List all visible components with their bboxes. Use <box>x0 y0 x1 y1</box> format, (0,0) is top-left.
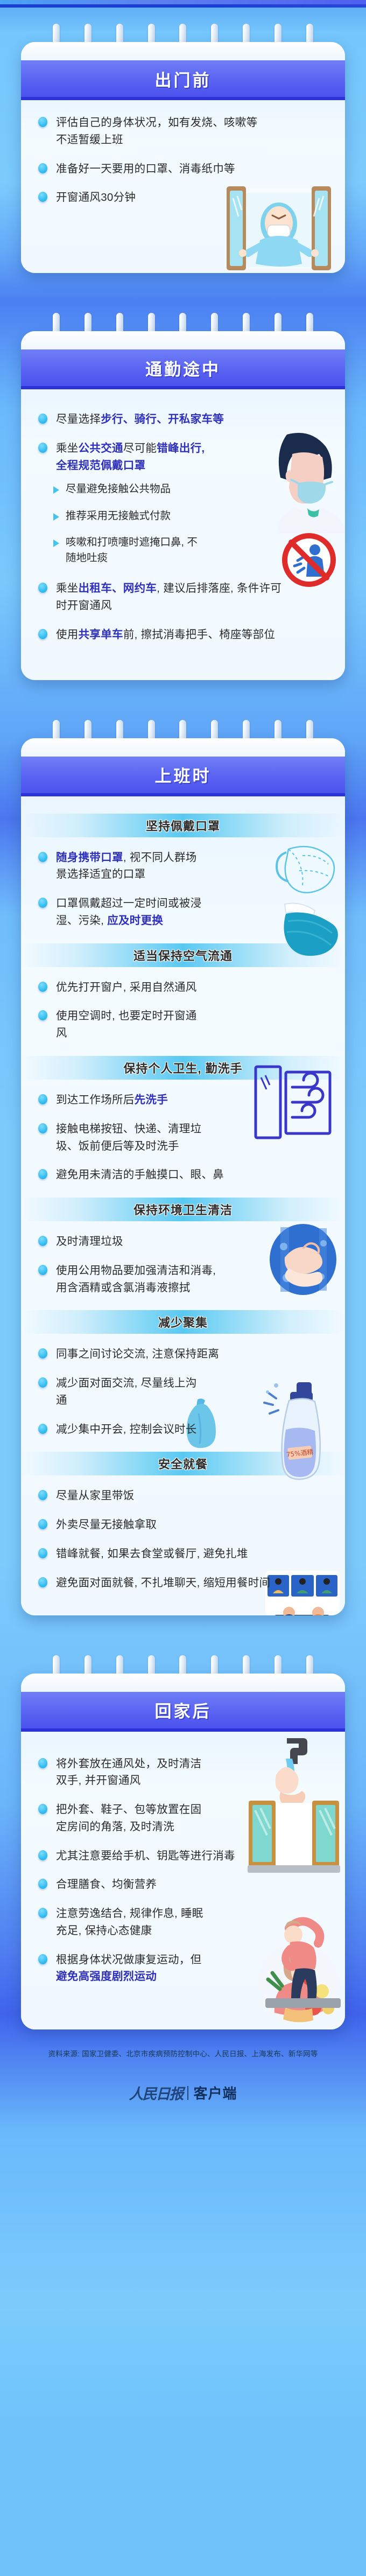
bullet-text-plain: 乘坐 <box>56 582 79 594</box>
group-header-text: 保持个人卫生, 勤洗手 <box>123 1059 242 1076</box>
list-item: 使用公用物品要加强清洁和消毒, 用含酒精或含氯消毒液擦拭 <box>35 1262 331 1297</box>
list-item: 避免面对面就餐, 不扎堆聊天, 缩短用餐时间 <box>35 1574 331 1592</box>
bullet-text: 接触电梯按钮、快递、清理垃圾、饭前便后等及时洗手 <box>56 1121 212 1155</box>
bullet-dot-icon <box>38 1236 47 1246</box>
list-item: 评估自己的身体状况，如有发烧、咳嗽等不适暂缓上班 <box>35 114 331 149</box>
section-title-text: 通勤途中 <box>145 356 221 380</box>
list-item: 随身携带口罩, 视不同人群场景选择适宜的口罩 <box>35 849 331 884</box>
publisher-logo: 人民日报 客户端 <box>0 2082 366 2103</box>
bullet-text-plain: 使用 <box>56 628 79 641</box>
bullet-text: 尽量从家里带饭 <box>56 1487 135 1504</box>
list-item: 乘坐出租车、网约车, 建议后排落座, 条件许可时开窗通风 <box>35 580 331 614</box>
bullet-list: 随身携带口罩, 视不同人群场景选择适宜的口罩 口罩佩戴超过一定时间或被浸湿、污染… <box>35 849 331 929</box>
bullet-list: 评估自己的身体状况，如有发烧、咳嗽等不适暂缓上班 准备好一天要用的口罩、消毒纸巾… <box>35 114 331 206</box>
bullet-text-plain: 到达工作场所后 <box>56 1094 135 1106</box>
bullet-dot-icon <box>38 1348 47 1359</box>
list-item: 推荐采用无接触式付款 <box>53 508 331 524</box>
group-header-text: 安全就餐 <box>158 1455 208 1472</box>
bullet-list: 尽量从家里带饭 外卖尽量无接触拿取 错峰就餐, 如果去食堂或餐厅, 避免扎堆 避… <box>35 1487 331 1591</box>
section-title-back-home: 回家后 <box>21 1692 345 1732</box>
logo-kehuduan: 客户端 <box>193 2083 237 2103</box>
list-item: 注意劳逸结合, 规律作息, 睡眠充足, 保持心态健康 <box>35 1905 331 1940</box>
bullet-text: 同事之间讨论交流, 注意保持距离 <box>56 1346 219 1363</box>
bullet-dot-icon <box>38 1169 47 1179</box>
sub-bullet-text: 尽量避免接触公共物品 <box>66 481 171 497</box>
bullet-text: 使用公用物品要加强清洁和消毒, 用含酒精或含氯消毒液擦拭 <box>56 1262 217 1297</box>
list-item: 咳嗽和打喷嚏时遮掩口鼻, 不随地吐痰 <box>53 535 331 566</box>
list-item: 外卖尽量无接触拿取 <box>35 1516 331 1534</box>
bullet-text-highlight: 出租车、网约车 <box>79 582 157 594</box>
list-item: 乘坐公共交通尽可能错峰出行, 全程规范佩戴口罩 <box>35 440 331 474</box>
bullet-text-highlight: 应及时更换 <box>107 914 163 927</box>
section-title-before-leaving: 出门前 <box>21 60 345 100</box>
bullet-text: 错峰就餐, 如果去食堂或餐厅, 避免扎堆 <box>56 1545 248 1563</box>
bullet-text: 使用共享单车前, 擦拭消毒把手、椅座等部位 <box>56 626 275 643</box>
bullet-text: 外卖尽量无接触拿取 <box>56 1516 157 1534</box>
section-title-commuting: 通勤途中 <box>21 349 345 389</box>
section-title-at-work: 上班时 <box>21 757 345 796</box>
sub-bullet-text: 咳嗽和打喷嚏时遮掩口鼻, 不随地吐痰 <box>66 535 207 566</box>
group-header-personal-hygiene: 保持个人卫生, 勤洗手 <box>21 1056 345 1080</box>
section-card-commuting: 通勤途中 <box>21 313 345 680</box>
bullet-text-highlight: 公共交通 <box>79 442 123 454</box>
list-item: 减少集中开会, 控制会议时长 <box>35 1421 331 1438</box>
list-item: 同事之间讨论交流, 注意保持距离 <box>35 1346 331 1363</box>
bullet-text-highlight: 随身携带口罩 <box>56 851 123 864</box>
bullet-text: 乘坐出租车、网约车, 建议后排落座, 条件许可时开窗通风 <box>56 580 282 614</box>
bullet-text: 乘坐公共交通尽可能错峰出行, 全程规范佩戴口罩 <box>56 440 217 474</box>
list-item: 优先打开窗户, 采用自然通风 <box>35 979 331 996</box>
bullet-text: 及时清理垃圾 <box>56 1233 123 1250</box>
bullet-text: 根据身体状况做康复运动，但避免高强度剧烈运动 <box>56 1951 212 1986</box>
bullet-dot-icon <box>38 852 47 862</box>
section-title-text: 出门前 <box>155 67 212 91</box>
card-top-edge <box>21 738 345 757</box>
bullet-dot-icon <box>38 1879 47 1889</box>
bullet-dot-icon <box>38 192 47 202</box>
bullet-dot-icon <box>38 117 47 127</box>
group-header-environment-clean: 保持环境卫生清洁 <box>21 1198 345 1221</box>
bullet-text: 优先打开窗户, 采用自然通风 <box>56 979 197 996</box>
bullet-text: 避免用未清洁的手触摸口、眼、鼻 <box>56 1166 224 1184</box>
list-item: 口罩佩戴超过一定时间或被浸湿、污染, 应及时更换 <box>35 895 331 929</box>
section-card-before-leaving: 出门前 评估自己的身体状况，如有发烧、咳嗽等不适暂缓上班 准备好一天要用的口罩、… <box>21 24 345 273</box>
bullet-dot-icon <box>38 982 47 992</box>
bullet-text: 合理膳食、均衡营养 <box>56 1876 157 1893</box>
bullet-dot-icon <box>38 629 47 639</box>
section-title-text: 回家后 <box>155 1698 212 1722</box>
list-item: 尽量避免接触公共物品 <box>53 481 331 497</box>
bullet-text: 随身携带口罩, 视不同人群场景选择适宜的口罩 <box>56 849 207 884</box>
bullet-text: 把外套、鞋子、包等放置在固定房间的角落, 及时清洗 <box>56 1801 212 1836</box>
bullet-dot-icon <box>38 1954 47 1964</box>
list-item: 将外套放在通风处，及时清洁双手, 并开窗通风 <box>35 1755 331 1790</box>
list-item: 接触电梯按钮、快递、清理垃圾、饭前便后等及时洗手 <box>35 1121 331 1155</box>
logo-renmin-ribao: 人民日报 <box>129 2082 182 2103</box>
bullet-text-plain: 尽量选择 <box>56 413 101 425</box>
bullet-text: 注意劳逸结合, 规律作息, 睡眠充足, 保持心态健康 <box>56 1905 212 1940</box>
bullet-list: 优先打开窗户, 采用自然通风 使用空调时, 也要定时开窗通风 <box>35 979 331 1042</box>
bullet-text: 到达工作场所后先洗手 <box>56 1091 168 1109</box>
bullet-dot-icon <box>38 1548 47 1558</box>
bullet-list: 到达工作场所后先洗手 接触电梯按钮、快递、清理垃圾、饭前便后等及时洗手 避免用未… <box>35 1091 331 1184</box>
bullet-dot-icon <box>38 1123 47 1133</box>
bullet-dot-icon <box>38 1804 47 1814</box>
list-item: 到达工作场所后先洗手 <box>35 1091 331 1109</box>
bullet-list: 及时清理垃圾 使用公用物品要加强清洁和消毒, 用含酒精或含氯消毒液擦拭 <box>35 1233 331 1296</box>
bullet-dot-icon <box>38 1424 47 1434</box>
group-header-text: 减少聚集 <box>158 1313 208 1331</box>
bullet-dot-icon <box>38 1850 47 1860</box>
group-header-text: 适当保持空气流通 <box>133 947 233 964</box>
list-item: 及时清理垃圾 <box>35 1233 331 1250</box>
bullet-dot-icon <box>38 1577 47 1587</box>
bullet-dot-icon <box>38 1265 47 1275</box>
bullet-text: 将外套放在通风处，及时清洁双手, 并开窗通风 <box>56 1755 212 1790</box>
bullet-text-plain: 前, 擦拭消毒把手、椅座等部位 <box>123 628 275 641</box>
card-top-edge <box>21 42 345 60</box>
section-card-at-work: 上班时 坚持佩戴口罩 <box>21 720 345 1615</box>
bullet-text: 评估自己的身体状况，如有发烧、咳嗽等不适暂缓上班 <box>56 114 266 149</box>
bullet-text: 尽量选择步行、骑行、开私家车等 <box>56 411 224 428</box>
list-item: 减少面对面交流, 尽量线上沟通 <box>35 1375 331 1409</box>
list-item: 使用共享单车前, 擦拭消毒把手、椅座等部位 <box>35 626 331 643</box>
bullet-dot-icon <box>38 1758 47 1768</box>
group-header-air-circulation: 适当保持空气流通 <box>21 943 345 967</box>
bullet-text-plain: 根据身体状况做康复运动，但 <box>56 1954 201 1966</box>
group-header-safe-dining: 安全就餐 <box>21 1452 345 1475</box>
bullet-dot-icon <box>38 583 47 593</box>
bullet-dot-icon <box>38 1377 47 1388</box>
list-item: 使用空调时, 也要定时开窗通风 <box>35 1007 331 1042</box>
bullet-text: 开窗通风30分钟 <box>56 189 136 206</box>
group-header-text: 坚持佩戴口罩 <box>146 817 220 834</box>
bullet-text-plain: 尽可能 <box>123 442 157 454</box>
bullet-dot-icon <box>38 1010 47 1020</box>
list-item: 合理膳食、均衡营养 <box>35 1876 331 1893</box>
bullet-dot-icon <box>38 1094 47 1104</box>
card-top-edge <box>21 331 345 349</box>
sub-bullet-text: 推荐采用无接触式付款 <box>66 508 171 524</box>
bullet-text: 口罩佩戴超过一定时间或被浸湿、污染, 应及时更换 <box>56 895 212 929</box>
footer: 资料来源: 国家卫健委、北京市疾病预防控制中心、人民日报、上海发布、新华网等 人… <box>0 2029 366 2117</box>
list-item: 准备好一天要用的口罩、消毒纸巾等 <box>35 160 331 178</box>
triangle-bullet-icon <box>53 486 59 494</box>
bullet-dot-icon <box>38 414 47 424</box>
bullet-dot-icon <box>38 1519 47 1529</box>
bullet-text-plain: 乘坐 <box>56 442 79 454</box>
bullet-text-highlight: 共享单车 <box>79 628 123 641</box>
source-text: 资料来源: 国家卫健委、北京市疾病预防控制中心、人民日报、上海发布、新华网等 <box>0 2048 366 2059</box>
bullet-dot-icon <box>38 443 47 453</box>
list-item: 开窗通风30分钟 <box>35 189 331 206</box>
group-header-wear-mask: 坚持佩戴口罩 <box>21 814 345 837</box>
list-item: 根据身体状况做康复运动，但避免高强度剧烈运动 <box>35 1951 331 1986</box>
bullet-list: 尽量选择步行、骑行、开私家车等 乘坐公共交通尽可能错峰出行, 全程规范佩戴口罩 … <box>35 411 331 643</box>
list-item: 避免用未清洁的手触摸口、眼、鼻 <box>35 1166 331 1184</box>
bullet-text: 减少面对面交流, 尽量线上沟通 <box>56 1375 201 1409</box>
triangle-bullet-icon <box>53 513 59 521</box>
section-title-text: 上班时 <box>155 762 212 787</box>
section-card-back-home: 回家后 <box>21 1655 345 2030</box>
group-header-reduce-gathering: 减少聚集 <box>21 1310 345 1334</box>
bullet-dot-icon <box>38 1490 47 1500</box>
bullet-text-highlight: 避免高强度剧烈运动 <box>56 1970 157 1983</box>
bullet-dot-icon <box>38 898 47 908</box>
logo-divider <box>187 2086 188 2100</box>
bullet-text-highlight: 先洗手 <box>135 1094 168 1106</box>
bullet-dot-icon <box>38 163 47 173</box>
bullet-text: 减少集中开会, 控制会议时长 <box>56 1421 197 1438</box>
sub-bullet-list: 尽量避免接触公共物品 推荐采用无接触式付款 咳嗽和打喷嚏时遮掩口鼻, 不随地吐痰 <box>53 481 331 566</box>
bullet-text: 使用空调时, 也要定时开窗通风 <box>56 1007 201 1042</box>
bullet-text: 准备好一天要用的口罩、消毒纸巾等 <box>56 160 235 178</box>
list-item: 把外套、鞋子、包等放置在固定房间的角落, 及时清洗 <box>35 1801 331 1836</box>
bullet-text-highlight: 步行、骑行、开私家车等 <box>101 413 224 425</box>
bullet-list: 将外套放在通风处，及时清洁双手, 并开窗通风 把外套、鞋子、包等放置在固定房间的… <box>35 1755 331 1986</box>
list-item: 错峰就餐, 如果去食堂或餐厅, 避免扎堆 <box>35 1545 331 1563</box>
list-item: 尽量从家里带饭 <box>35 1487 331 1504</box>
bullet-text: 尤其注意要给手机、钥匙等进行消毒 <box>56 1847 235 1865</box>
list-item: 尤其注意要给手机、钥匙等进行消毒 <box>35 1847 331 1865</box>
group-header-text: 保持环境卫生清洁 <box>133 1201 233 1218</box>
triangle-bullet-icon <box>53 540 59 547</box>
bullet-text: 避免面对面就餐, 不扎堆聊天, 缩短用餐时间 <box>56 1574 270 1592</box>
bullet-list: 同事之间讨论交流, 注意保持距离 减少面对面交流, 尽量线上沟通 减少集中开会,… <box>35 1346 331 1438</box>
bullet-dot-icon <box>38 1908 47 1918</box>
card-top-edge <box>21 1674 345 1692</box>
list-item: 尽量选择步行、骑行、开私家车等 <box>35 411 331 428</box>
